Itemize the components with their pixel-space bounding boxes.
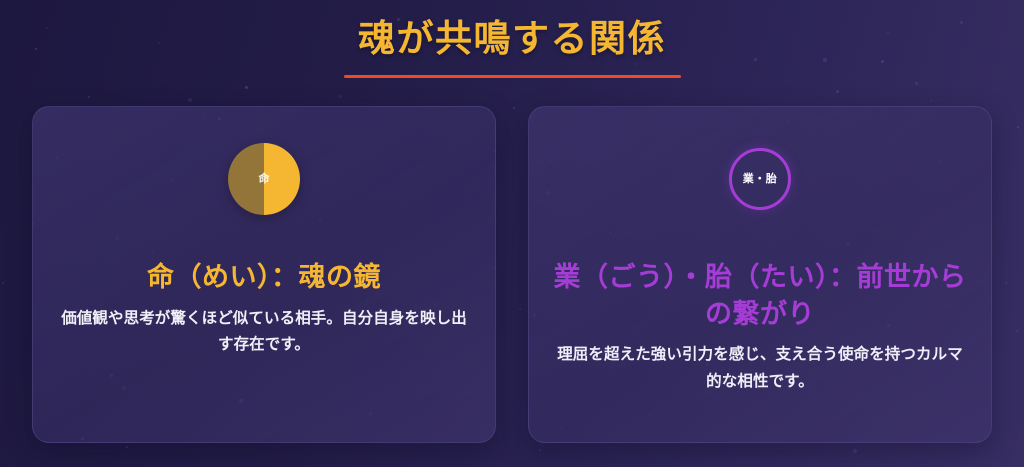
icon-wrap-mei: 命 xyxy=(228,143,300,215)
page-container: 魂が共鳴する関係 命 命（めい）：魂の鏡 価値観や思考が驚くほど似ている相手。自… xyxy=(0,0,1024,467)
purple-ring-karma-icon: 業・胎 xyxy=(729,148,791,210)
card-mei[interactable]: 命 命（めい）：魂の鏡 価値観や思考が驚くほど似ている相手。自分自身を映し出す存… xyxy=(32,106,496,443)
card-title-gou-tai: 業（ごう）・胎（たい）：前世からの繋がり xyxy=(553,259,967,332)
card-gou-tai[interactable]: 業・胎 業（ごう）・胎（たい）：前世からの繋がり 理屈を超えた強い引力を感じ、支… xyxy=(528,106,992,443)
purple-ring-karma-icon-label: 業・胎 xyxy=(743,174,778,185)
card-description-mei: 価値観や思考が驚くほど似ている相手。自分自身を映し出す存在です。 xyxy=(57,306,471,359)
split-circle-mirror-icon-label: 命 xyxy=(259,174,270,185)
page-title: 魂が共鳴する関係 xyxy=(0,16,1024,62)
cards-row: 命 命（めい）：魂の鏡 価値観や思考が驚くほど似ている相手。自分自身を映し出す存… xyxy=(0,106,1024,443)
heading-block: 魂が共鳴する関係 xyxy=(0,16,1024,78)
card-description-gou-tai: 理屈を超えた強い引力を感じ、支え合う使命を持つカルマ的な相性です。 xyxy=(553,342,967,395)
split-circle-mirror-icon: 命 xyxy=(228,143,300,215)
title-underline xyxy=(344,75,681,78)
card-title-mei: 命（めい）：魂の鏡 xyxy=(147,259,381,295)
icon-wrap-gou-tai: 業・胎 xyxy=(724,143,796,215)
